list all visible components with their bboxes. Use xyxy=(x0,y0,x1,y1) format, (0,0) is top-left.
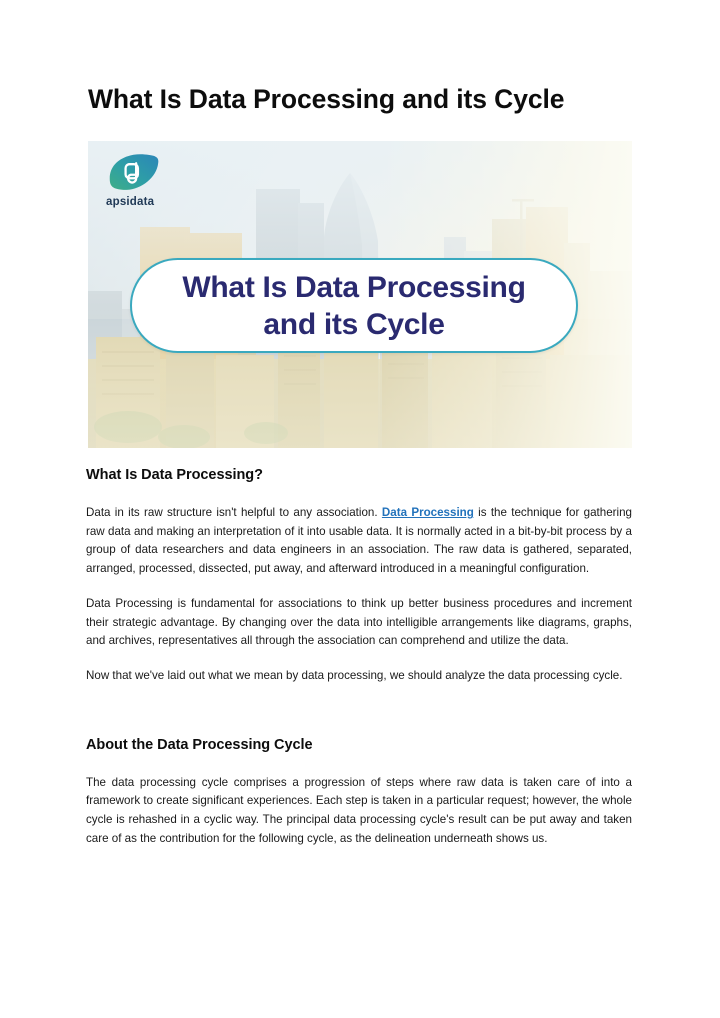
article-body: What Is Data Processing? Data in its raw… xyxy=(86,465,632,848)
hero-title-line-1: What Is Data Processing xyxy=(182,269,525,306)
paragraph-3: Now that we've laid out what we mean by … xyxy=(86,667,632,686)
logo-wordmark: apsidata xyxy=(106,196,178,208)
brand-logo: apsidata xyxy=(104,151,178,208)
document-page: What Is Data Processing and its Cycle xyxy=(0,0,720,1018)
section-heading-2: About the Data Processing Cycle xyxy=(86,735,632,755)
spacer xyxy=(86,579,632,595)
spacer xyxy=(86,686,632,735)
paragraph-1: Data in its raw structure isn't helpful … xyxy=(86,504,632,579)
spacer xyxy=(86,651,632,667)
page-title: What Is Data Processing and its Cycle xyxy=(88,82,648,116)
data-processing-link[interactable]: Data Processing xyxy=(382,506,474,519)
hero-title-line-2: and its Cycle xyxy=(263,306,444,343)
spacer xyxy=(86,485,632,504)
hero-title-pill: What Is Data Processing and its Cycle xyxy=(130,258,578,353)
spacer xyxy=(86,755,632,774)
paragraph-4: The data processing cycle comprises a pr… xyxy=(86,774,632,849)
paragraph-2: Data Processing is fundamental for assoc… xyxy=(86,595,632,651)
paragraph-1-before: Data in its raw structure isn't helpful … xyxy=(86,506,382,519)
leaf-logo-icon xyxy=(106,151,161,195)
section-heading-1: What Is Data Processing? xyxy=(86,465,632,485)
hero-banner-image: apsidata What Is Data Processing and its… xyxy=(88,141,632,448)
